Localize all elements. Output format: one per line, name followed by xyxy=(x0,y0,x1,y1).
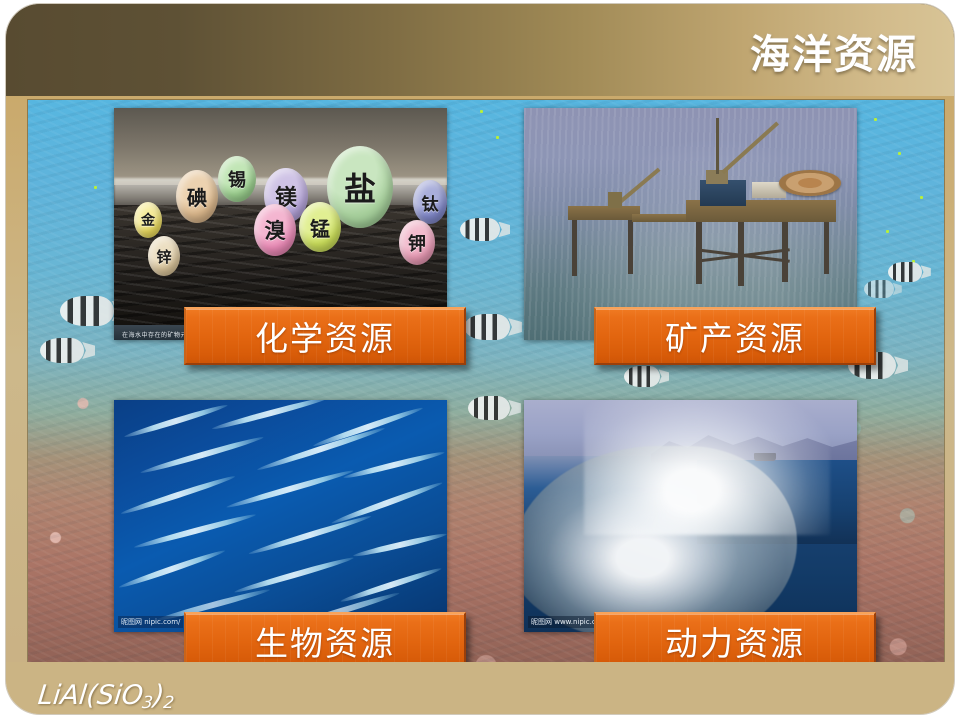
reef-fish xyxy=(464,314,510,340)
label-mineral-resources[interactable]: 矿产资源 xyxy=(594,307,876,365)
reef-fish xyxy=(888,262,922,282)
rig-leg xyxy=(824,222,829,274)
speckle-decoration xyxy=(920,196,923,199)
element-bubble-jin: 金 xyxy=(134,202,162,238)
rig-helipad xyxy=(779,170,841,196)
fish-streak xyxy=(118,548,226,590)
rig-leg xyxy=(628,220,633,274)
speckle-decoration xyxy=(94,186,97,189)
fish-streak xyxy=(248,513,372,556)
element-bubble-tai: 钛 xyxy=(413,180,447,224)
rig-crane-base xyxy=(608,192,622,208)
speckle-decoration xyxy=(874,118,877,121)
photo-sea-spray xyxy=(584,400,830,535)
formula-main: LiAl(SiO xyxy=(36,680,144,711)
photo-mineral-resources xyxy=(524,108,857,340)
fish-streak xyxy=(120,474,236,517)
content-canvas: 盐 镁 锡 碘 金 锌 溴 xyxy=(28,100,944,678)
element-bubble-meng: 锰 xyxy=(299,202,341,252)
reef-fish xyxy=(60,296,114,326)
fish-streak xyxy=(226,468,355,510)
label-text: 动力资源 xyxy=(665,617,805,665)
reef-fish xyxy=(864,280,894,298)
reef-fish xyxy=(624,366,660,387)
slide-footer: LiAl(SiO3)2 xyxy=(6,662,954,714)
slide-root: 海洋资源 xyxy=(0,0,960,720)
fish-streak xyxy=(211,400,330,432)
rig-leg xyxy=(572,220,577,276)
reef-fish xyxy=(468,396,510,420)
label-text: 生物资源 xyxy=(255,617,395,665)
fish-streak xyxy=(353,531,447,558)
reef-fish xyxy=(460,218,500,241)
speckle-decoration xyxy=(898,152,901,155)
footer-formula: LiAl(SiO3)2 xyxy=(36,680,176,712)
photo-caption-text: 在海水中存在的矿物元素 xyxy=(122,330,194,339)
fish-streak xyxy=(343,450,445,481)
fish-streak xyxy=(133,512,256,550)
slide-header: 海洋资源 xyxy=(6,4,954,96)
fish-streak xyxy=(140,434,265,475)
photo-watermark: 昵图网 nipic.com/ xyxy=(118,616,183,628)
rig-mast xyxy=(716,118,719,174)
rig-deck-left xyxy=(568,206,640,220)
element-bubble-jia: 钾 xyxy=(399,220,435,265)
fish-streak xyxy=(234,555,355,595)
photo-power-resources: 昵图网 www.nipic.com xyxy=(524,400,857,632)
element-bubble-xiu: 溴 xyxy=(254,204,296,256)
photo-biological-resources: 昵图网 nipic.com/ xyxy=(114,400,447,632)
fish-streak xyxy=(123,402,228,439)
fish-streak xyxy=(331,480,444,526)
label-text: 化学资源 xyxy=(255,312,395,360)
label-chemical-resources[interactable]: 化学资源 xyxy=(184,307,466,365)
speckle-decoration xyxy=(886,230,889,233)
rig-leg xyxy=(696,222,702,284)
fish-streak xyxy=(340,566,443,604)
label-text: 矿产资源 xyxy=(665,312,805,360)
slide-frame: 海洋资源 xyxy=(6,4,954,714)
element-bubble-xi: 锡 xyxy=(218,156,256,202)
element-bubble-dian: 碘 xyxy=(176,170,218,223)
speckle-decoration xyxy=(496,136,499,139)
fish-streak xyxy=(256,425,385,472)
element-bubble-xin: 锌 xyxy=(148,236,180,276)
reef-fish xyxy=(40,338,84,363)
formula-sub-2: 2 xyxy=(162,692,175,712)
photo-chemical-resources: 盐 镁 锡 碘 金 锌 溴 xyxy=(114,108,447,340)
page-title: 海洋资源 xyxy=(750,22,918,80)
speckle-decoration xyxy=(480,110,483,113)
